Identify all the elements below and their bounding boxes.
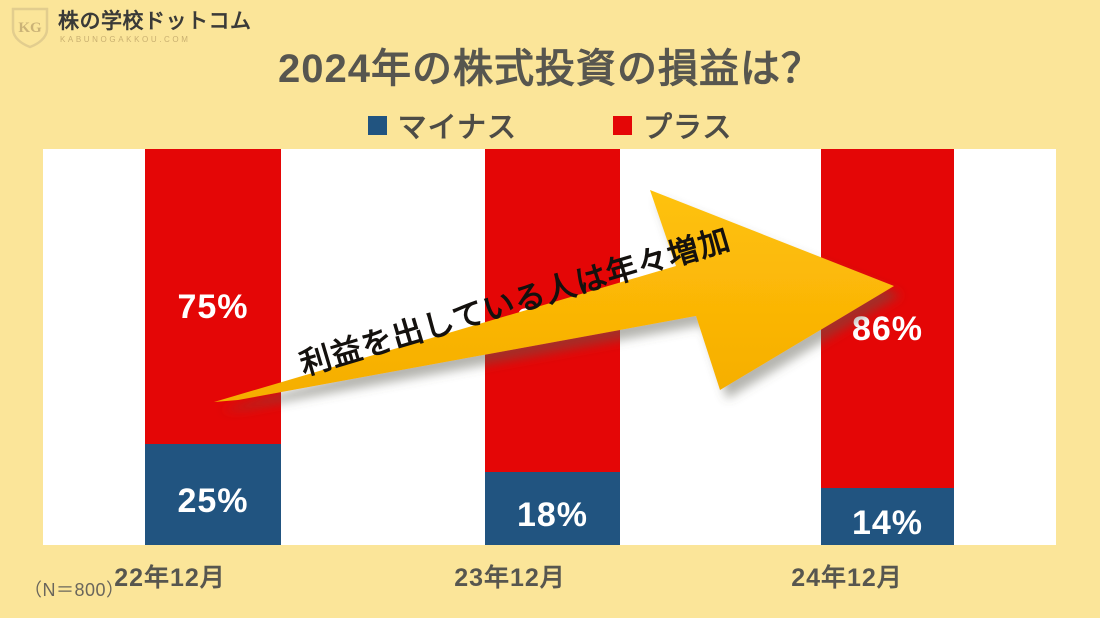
bar-segment-plus-1: 82% — [485, 149, 620, 472]
bar-segment-minus-1: 18% — [485, 472, 620, 545]
legend-item-plus: プラス — [613, 104, 732, 146]
square-marker-plus-icon — [613, 116, 632, 135]
bar-column-1: 82% 18% — [485, 149, 620, 545]
legend-item-minus: マイナス — [368, 104, 517, 146]
bar-segment-plus-2: 86% — [821, 149, 954, 488]
bar-value-minus-2: 14% — [852, 504, 923, 543]
bar-segment-minus-2: 14% — [821, 488, 954, 545]
chart-legend: マイナス プラス — [0, 104, 1100, 146]
bar-column-0: 75% 25% — [145, 149, 281, 545]
chart-title: 2024年の株式投資の損益は？ — [0, 36, 1100, 94]
legend-label-minus: マイナス — [398, 104, 517, 146]
svg-text:KG: KG — [18, 20, 42, 36]
sample-size-note: （N＝800） — [24, 576, 125, 602]
logo-title: 株の学校ドットコム — [58, 11, 252, 32]
bar-value-minus-1: 18% — [517, 496, 588, 535]
bar-segment-minus-0: 25% — [145, 444, 281, 545]
square-marker-minus-icon — [368, 116, 387, 135]
bar-value-plus-2: 86% — [852, 310, 923, 349]
x-axis-label-1: 23年12月 — [415, 558, 605, 594]
bar-value-plus-0: 75% — [177, 288, 248, 327]
bar-value-minus-0: 25% — [177, 482, 248, 521]
legend-label-plus: プラス — [643, 104, 732, 146]
bar-value-plus-1: 82% — [517, 302, 588, 341]
bar-column-2: 86% 14% — [821, 149, 954, 545]
bar-segment-plus-0: 75% — [145, 149, 281, 444]
chart-plot-area: 75% 25% 82% 18% 86% 14% — [43, 149, 1056, 545]
x-axis-label-2: 24年12月 — [752, 558, 942, 594]
